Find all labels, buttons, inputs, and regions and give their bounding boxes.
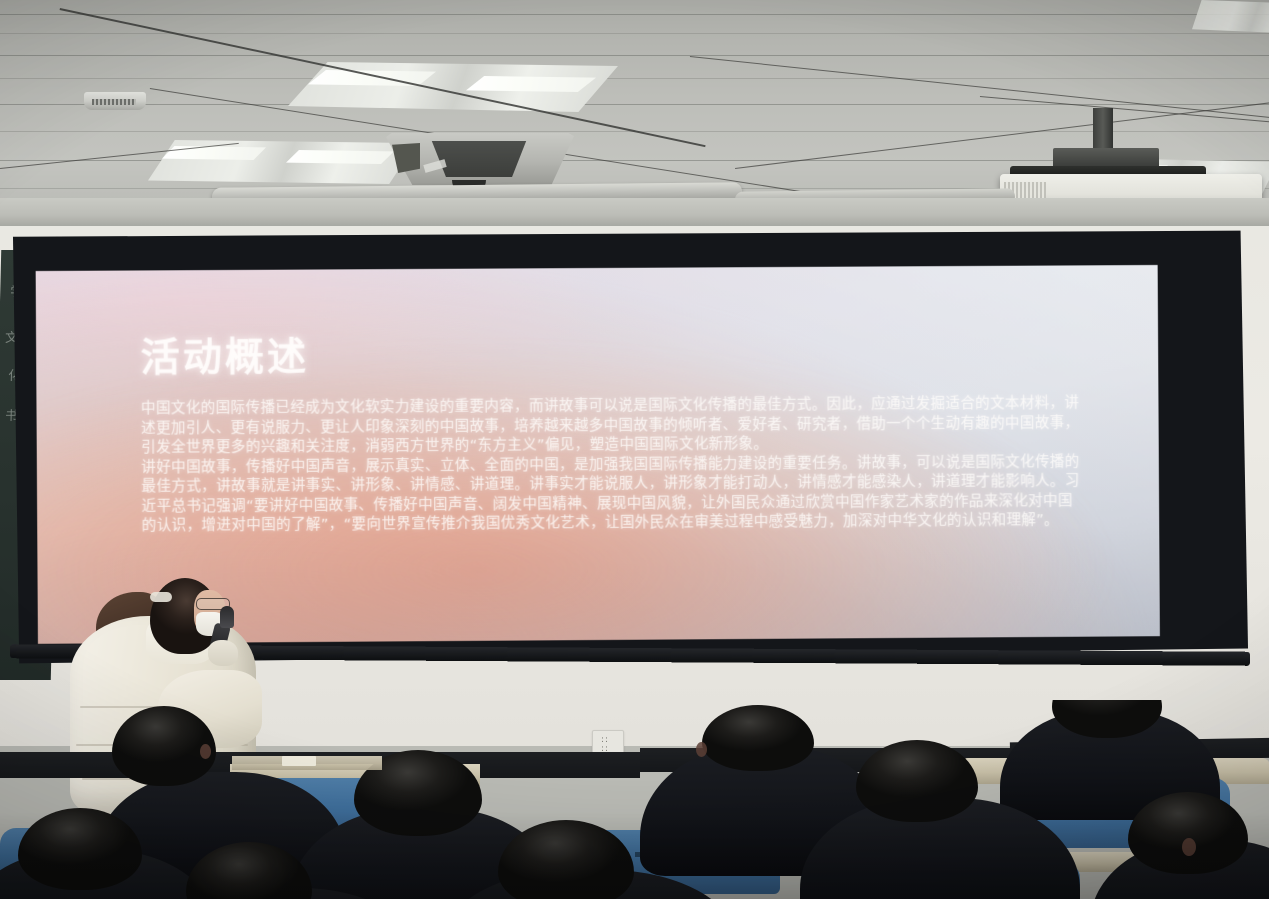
slide-body-text: 中国文化的国际传播已经成为文化软实力建设的重要内容，而讲故事可以说是国际文化传播… [141, 393, 1082, 535]
audience-member-head [702, 705, 814, 771]
microphone-icon [220, 606, 234, 628]
support-wire [690, 56, 1269, 120]
ceiling-light-panel [1192, 0, 1269, 34]
audience-ear [1182, 838, 1196, 856]
fluorescent-tube [466, 76, 596, 92]
fluorescent-tube [286, 150, 394, 164]
presenter-hand [208, 640, 238, 666]
audience-member-head [1128, 792, 1248, 874]
projector-mount-pole [1093, 108, 1113, 150]
audience-ear [696, 742, 707, 757]
fluorescent-tube [162, 146, 266, 160]
slide-paragraph: 讲好中国故事，传播好中国声音，展示真实、立体、全面的中国，是加强我国国际传播能力… [141, 452, 1081, 536]
ceiling-speaker-grille [92, 99, 136, 105]
lecture-hall-photo: EPSON 学 文 化 书 活动概述 中国文化的国际传播已经成为文化软实力建设的… [0, 0, 1269, 899]
audience-seating-area [0, 700, 1269, 899]
presenter-hair-tie [150, 592, 172, 602]
projector-mount-bracket [1053, 148, 1159, 168]
support-wire [735, 102, 1269, 169]
slide-title: 活动概述 [140, 326, 309, 383]
audience-ear [200, 744, 211, 759]
paper-sheet [282, 756, 316, 766]
slide-paragraph: 中国文化的国际传播已经成为文化软实力建设的重要内容，而讲故事可以说是国际文化传播… [141, 393, 1081, 457]
